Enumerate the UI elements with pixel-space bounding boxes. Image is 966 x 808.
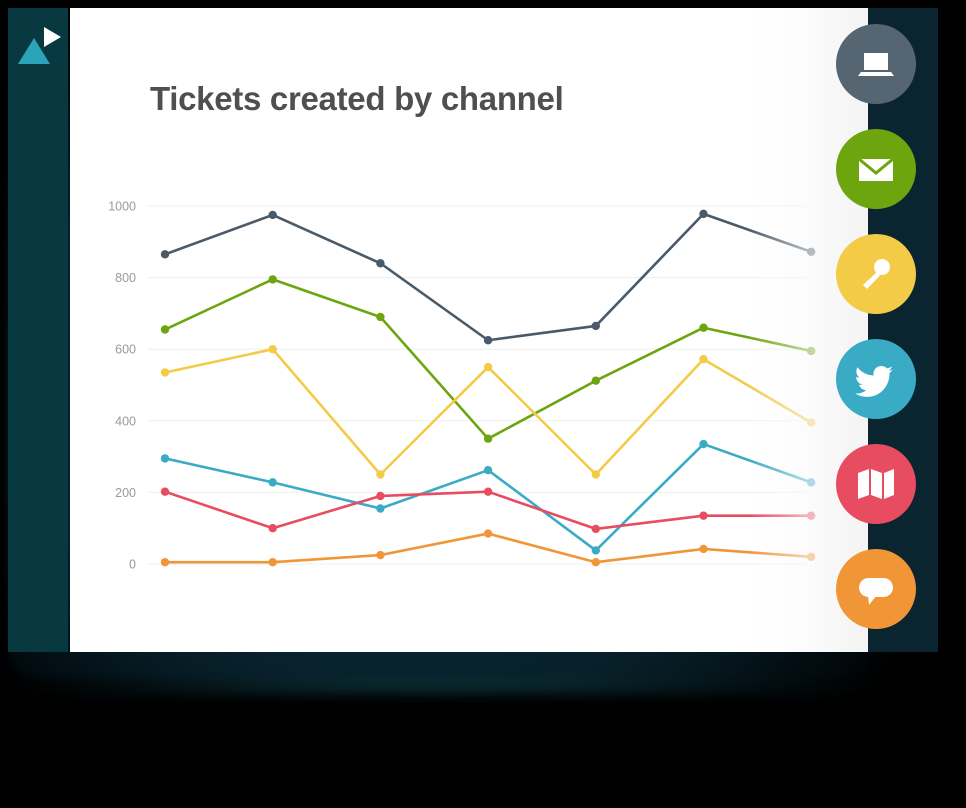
data-point-web[interactable] bbox=[161, 250, 169, 258]
data-point-facebook[interactable] bbox=[376, 492, 384, 500]
play-triangle-icon bbox=[44, 27, 61, 47]
data-point-facebook[interactable] bbox=[699, 511, 707, 519]
data-point-email[interactable] bbox=[161, 325, 169, 333]
data-point-chat[interactable] bbox=[699, 545, 707, 553]
y-axis-tick-label: 1000 bbox=[108, 200, 136, 214]
bottom-mask bbox=[0, 740, 966, 808]
data-point-email[interactable] bbox=[376, 313, 384, 321]
series-line-facebook bbox=[165, 492, 811, 529]
map-glyph bbox=[856, 464, 896, 504]
laptop-glyph bbox=[856, 44, 896, 84]
chat-icon[interactable] bbox=[836, 549, 916, 629]
data-point-chat[interactable] bbox=[376, 551, 384, 559]
data-point-voice[interactable] bbox=[484, 363, 492, 371]
line-chart: 02004006008001000 bbox=[70, 8, 868, 652]
data-point-facebook[interactable] bbox=[484, 487, 492, 495]
data-point-voice[interactable] bbox=[269, 345, 277, 353]
series-line-web bbox=[165, 214, 811, 340]
data-point-web[interactable] bbox=[807, 248, 815, 256]
data-point-facebook[interactable] bbox=[161, 487, 169, 495]
chart-canvas: 02004006008001000 bbox=[70, 8, 868, 652]
data-point-chat[interactable] bbox=[161, 558, 169, 566]
series-line-chat bbox=[165, 534, 811, 563]
data-point-web[interactable] bbox=[699, 210, 707, 218]
data-point-facebook[interactable] bbox=[807, 511, 815, 519]
data-point-chat[interactable] bbox=[269, 558, 277, 566]
data-point-facebook[interactable] bbox=[592, 525, 600, 533]
data-point-email[interactable] bbox=[592, 377, 600, 385]
data-point-twitter[interactable] bbox=[592, 546, 600, 554]
screenshot-stage: Tickets created by channel 0200400600800… bbox=[0, 0, 966, 808]
data-point-chat[interactable] bbox=[807, 553, 815, 561]
data-point-web[interactable] bbox=[376, 259, 384, 267]
data-point-twitter[interactable] bbox=[807, 478, 815, 486]
series-line-email bbox=[165, 279, 811, 438]
dashboard-card: Tickets created by channel 0200400600800… bbox=[70, 8, 868, 652]
y-axis-tick-label: 600 bbox=[115, 343, 136, 357]
voice-icon[interactable] bbox=[836, 234, 916, 314]
data-point-chat[interactable] bbox=[484, 529, 492, 537]
envelope-glyph bbox=[855, 148, 897, 190]
data-point-chat[interactable] bbox=[592, 558, 600, 566]
y-axis-tick-label: 200 bbox=[115, 486, 136, 500]
y-axis-tick-label: 0 bbox=[129, 558, 136, 572]
web-widget-icon[interactable] bbox=[836, 24, 916, 104]
facebook-icon[interactable] bbox=[836, 444, 916, 524]
microphone-glyph bbox=[855, 253, 897, 295]
twitter-bird-glyph bbox=[855, 358, 897, 400]
data-point-voice[interactable] bbox=[161, 368, 169, 376]
data-point-twitter[interactable] bbox=[161, 454, 169, 462]
data-point-twitter[interactable] bbox=[484, 466, 492, 474]
data-point-web[interactable] bbox=[269, 211, 277, 219]
y-axis-tick-label: 400 bbox=[115, 414, 136, 428]
data-point-web[interactable] bbox=[484, 336, 492, 344]
data-point-voice[interactable] bbox=[376, 470, 384, 478]
email-icon[interactable] bbox=[836, 129, 916, 209]
channel-icon-rail bbox=[836, 0, 966, 660]
data-point-voice[interactable] bbox=[592, 470, 600, 478]
data-point-email[interactable] bbox=[484, 435, 492, 443]
triangle-play-logo[interactable] bbox=[16, 22, 66, 62]
app-sidebar bbox=[8, 8, 68, 652]
data-point-facebook[interactable] bbox=[269, 524, 277, 532]
twitter-icon[interactable] bbox=[836, 339, 916, 419]
data-point-twitter[interactable] bbox=[269, 478, 277, 486]
data-point-email[interactable] bbox=[269, 275, 277, 283]
chat-bubble-glyph bbox=[855, 568, 897, 610]
data-point-twitter[interactable] bbox=[699, 440, 707, 448]
data-point-voice[interactable] bbox=[807, 418, 815, 426]
data-point-voice[interactable] bbox=[699, 355, 707, 363]
data-point-web[interactable] bbox=[592, 322, 600, 330]
data-point-email[interactable] bbox=[699, 324, 707, 332]
y-axis-tick-label: 800 bbox=[115, 271, 136, 285]
data-point-email[interactable] bbox=[807, 347, 815, 355]
data-point-twitter[interactable] bbox=[376, 504, 384, 512]
